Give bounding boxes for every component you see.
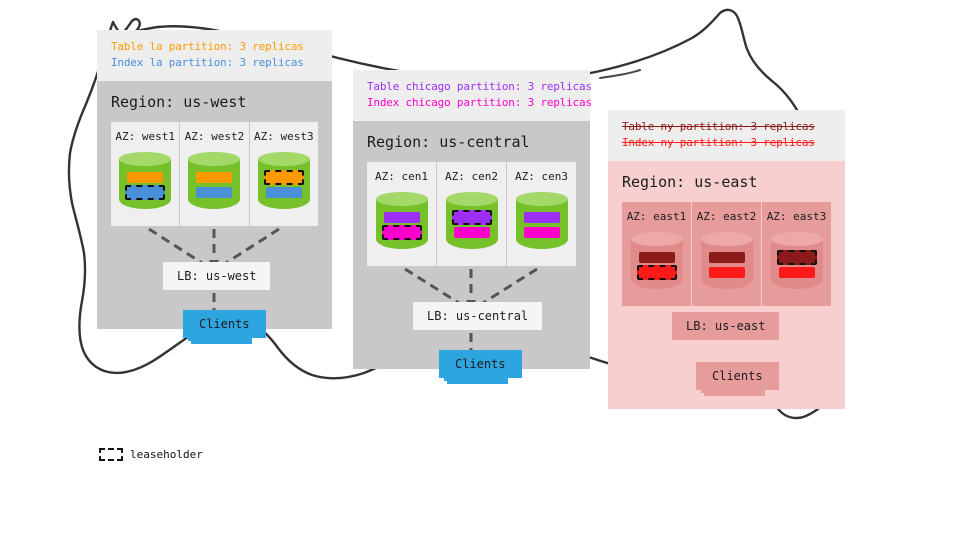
az-label-cen1: AZ: cen1 [375,170,428,183]
node-cylinder-cen2[interactable] [446,192,498,256]
load-balancer-us-west[interactable]: LB: us-west [163,262,270,290]
diagram-canvas: Table la partition: 3 replicas Index la … [0,0,960,540]
clients-us-central[interactable]: Clients [439,350,522,378]
replica-index-ny[interactable] [779,267,815,278]
replica-table-chicago-leaseholder[interactable] [452,210,492,225]
node-cylinder-west2[interactable] [188,152,240,216]
cylinder-top [771,232,823,246]
region-title-us-west: Region: us-west [111,93,318,111]
replica-table-ny[interactable] [639,252,675,263]
cylinder-top [516,192,568,206]
region-panel-us-central: Table chicago partition: 3 replicas Inde… [353,70,590,369]
replica-index-chicago[interactable] [454,227,490,238]
az-row-us-central: AZ: cen1 AZ: cen2 [367,162,576,266]
node-cylinder-east3[interactable] [771,232,823,296]
load-balancer-us-east[interactable]: LB: us-east [672,312,779,340]
dashed-rectangle-icon [99,448,123,461]
cylinder-top [119,152,171,166]
region-title-us-central: Region: us-central [367,133,576,151]
partition-band-us-east: Table ny partition: 3 replicas Index ny … [608,110,845,161]
cylinder-body [188,159,240,209]
partition-line-table: Table chicago partition: 3 replicas [367,79,576,95]
cylinder-body [119,159,171,209]
node-cylinder-cen1[interactable] [376,192,428,256]
az-box-cen1[interactable]: AZ: cen1 [367,162,436,266]
region-body-us-west: Region: us-west AZ: west1 AZ: west2 [97,81,332,329]
az-box-cen3[interactable]: AZ: cen3 [506,162,576,266]
az-row-us-west: AZ: west1 AZ: west2 [111,122,318,226]
az-label-cen3: AZ: cen3 [515,170,568,183]
replica-table-la[interactable] [127,172,163,183]
cylinder-body [701,239,753,289]
clients-us-east[interactable]: Clients [696,362,779,390]
cylinder-top [376,192,428,206]
replica-table-chicago[interactable] [524,212,560,223]
replica-index-ny-leaseholder[interactable] [637,265,677,280]
cylinder-top [701,232,753,246]
az-box-east1[interactable]: AZ: east1 [622,202,691,306]
region-body-us-central: Region: us-central AZ: cen1 AZ: cen2 [353,121,590,369]
cylinder-top [446,192,498,206]
node-cylinder-west3[interactable] [258,152,310,216]
partition-line-index: Index ny partition: 3 replicas [622,135,831,151]
replica-index-la-leaseholder[interactable] [125,185,165,200]
node-cylinder-east1[interactable] [631,232,683,296]
partition-line-index: Index chicago partition: 3 replicas [367,95,576,111]
clients-stack-us-central[interactable]: Clients [439,350,522,378]
load-balancer-us-central[interactable]: LB: us-central [413,302,542,330]
node-cylinder-east2[interactable] [701,232,753,296]
cylinder-top [258,152,310,166]
replica-index-chicago-leaseholder[interactable] [382,225,422,240]
az-row-us-east: AZ: east1 AZ: east2 [622,202,831,306]
az-box-west3[interactable]: AZ: west3 [249,122,318,226]
az-box-east2[interactable]: AZ: east2 [691,202,761,306]
replica-table-ny[interactable] [709,252,745,263]
region-title-us-east: Region: us-east [622,173,831,191]
az-label-west1: AZ: west1 [115,130,175,143]
az-box-west1[interactable]: AZ: west1 [111,122,179,226]
node-cylinder-west1[interactable] [119,152,171,216]
node-cylinder-cen3[interactable] [516,192,568,256]
replica-index-la[interactable] [196,187,232,198]
az-box-cen2[interactable]: AZ: cen2 [436,162,506,266]
az-label-west2: AZ: west2 [185,130,245,143]
region-panel-us-west: Table la partition: 3 replicas Index la … [97,30,332,329]
replica-table-la[interactable] [196,172,232,183]
replica-table-chicago[interactable] [384,212,420,223]
az-box-west2[interactable]: AZ: west2 [179,122,248,226]
partition-line-index: Index la partition: 3 replicas [111,55,318,71]
cylinder-body [631,239,683,289]
cylinder-top [631,232,683,246]
replica-index-chicago[interactable] [524,227,560,238]
partition-band-us-west: Table la partition: 3 replicas Index la … [97,30,332,81]
replica-index-ny[interactable] [709,267,745,278]
replica-table-la-leaseholder[interactable] [264,170,304,185]
cylinder-body [516,199,568,249]
partition-line-table: Table ny partition: 3 replicas [622,119,831,135]
cylinder-top [188,152,240,166]
legend: leaseholder [99,448,203,461]
clients-stack-us-east[interactable]: Clients [696,362,779,390]
clients-stack-us-west[interactable]: Clients [183,310,266,338]
replica-index-la[interactable] [266,187,302,198]
partition-band-us-central: Table chicago partition: 3 replicas Inde… [353,70,590,121]
region-panel-us-east: Table ny partition: 3 replicas Index ny … [608,110,845,409]
az-label-east3: AZ: east3 [767,210,827,223]
clients-us-west[interactable]: Clients [183,310,266,338]
az-box-east3[interactable]: AZ: east3 [761,202,831,306]
legend-label: leaseholder [130,448,203,461]
partition-line-table: Table la partition: 3 replicas [111,39,318,55]
az-label-cen2: AZ: cen2 [445,170,498,183]
cylinder-body [376,199,428,249]
az-label-east2: AZ: east2 [697,210,757,223]
az-label-west3: AZ: west3 [254,130,314,143]
az-label-east1: AZ: east1 [627,210,687,223]
replica-table-ny-leaseholder[interactable] [777,250,817,265]
